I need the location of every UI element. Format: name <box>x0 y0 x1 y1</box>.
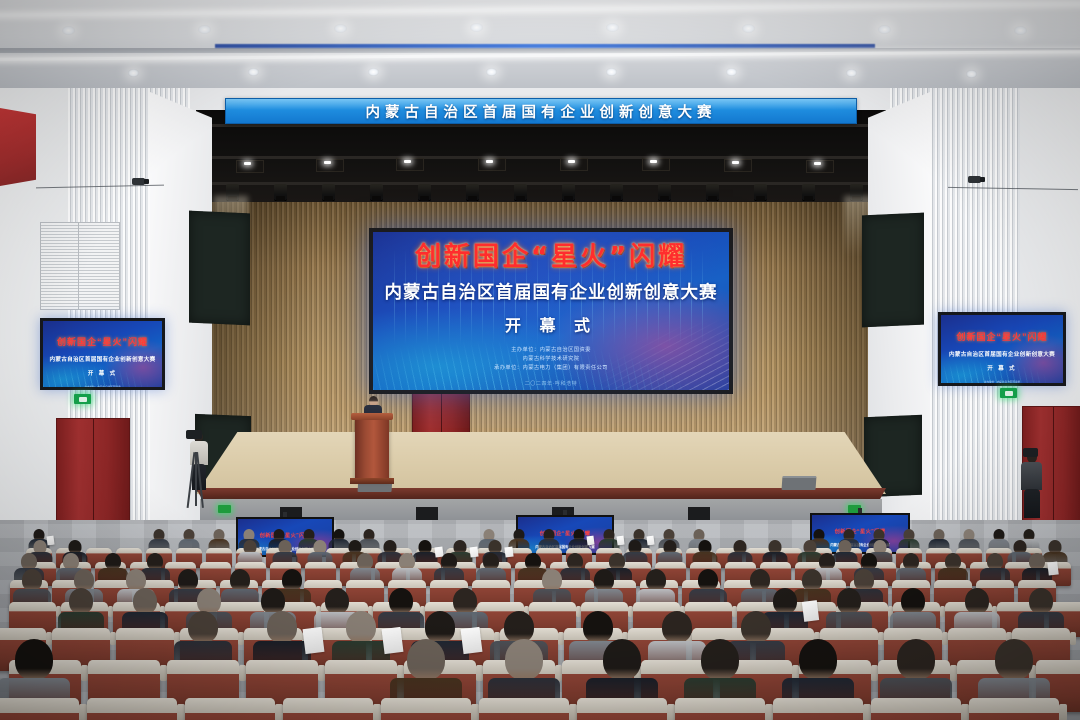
seat-headrest <box>167 660 239 674</box>
audience-head <box>69 588 93 614</box>
seat-headrest <box>655 562 686 568</box>
ceiling-downlight <box>966 70 977 78</box>
led-surface: 创新国企“星火”闪耀 内蒙古自治区首届国有企业创新创意大赛 开 幕 式 主办单位… <box>373 232 729 390</box>
main-headline: 创新国企“星火”闪耀 <box>373 244 729 270</box>
audience-head <box>698 569 718 591</box>
seat-headrest <box>206 548 232 553</box>
seat-headrest <box>346 580 384 588</box>
audience-head <box>407 639 445 680</box>
audience-head <box>133 588 157 614</box>
seat-headrest <box>388 580 426 588</box>
seat-headrest <box>472 580 510 588</box>
seat-headrest <box>270 562 301 568</box>
seat-headrest <box>760 562 791 568</box>
seat-armrest <box>318 665 325 681</box>
truss-bar <box>196 182 886 185</box>
seat-headrest <box>0 698 79 713</box>
audience-head <box>188 611 218 643</box>
apron-vent <box>416 507 438 521</box>
audience-seat[interactable] <box>185 698 275 720</box>
organizer-line-2: 内蒙古科学技术研究院 <box>373 355 729 364</box>
audience-head <box>230 569 250 591</box>
audience-head <box>1029 588 1053 614</box>
seat-headrest <box>305 562 336 568</box>
operator-legs <box>1024 489 1040 518</box>
event-date-line: 二〇二四年·呼和浩特 <box>373 380 729 387</box>
side-right-headline: 创新国企“星火”闪耀 <box>941 330 1063 343</box>
apron-vent <box>688 507 710 521</box>
audience-head <box>995 639 1033 680</box>
seat-headrest <box>185 698 275 713</box>
audience-seat[interactable] <box>773 698 863 720</box>
podium-base <box>350 478 394 484</box>
organizer-line-3: 承办单位：内蒙古电力（集团）有限责任公司 <box>373 364 729 373</box>
acoustic-panel <box>189 211 250 326</box>
seat-armrest <box>765 704 773 720</box>
audience-head <box>701 639 739 680</box>
seat-headrest <box>325 660 397 674</box>
side-left-headline: 创新国企“星火”闪耀 <box>43 335 162 348</box>
seat-armrest <box>373 704 381 720</box>
seat-headrest <box>1012 628 1070 640</box>
seat-headrest <box>675 698 765 713</box>
audience-head <box>897 639 935 680</box>
seat-headrest <box>430 580 468 588</box>
stage-spotlight <box>562 184 575 200</box>
stage-spotlight <box>418 184 431 200</box>
truss-bar <box>196 124 886 127</box>
seat-headrest <box>235 562 266 568</box>
seat-armrest <box>160 665 167 681</box>
ceiling-downlight <box>62 26 75 35</box>
seat-headrest <box>479 698 569 713</box>
seat-armrest <box>1070 632 1076 645</box>
seat-headrest <box>577 698 667 713</box>
seat-headrest <box>246 660 318 674</box>
ceiling-downlight <box>878 25 891 34</box>
organizer-line-1: 主办单位：内蒙古自治区国资委 <box>373 346 729 355</box>
audience-seat[interactable] <box>871 698 961 720</box>
audience-head <box>594 569 614 591</box>
stage-spotlight <box>274 184 287 200</box>
ceiling-downlight <box>606 23 619 32</box>
seat-headrest <box>200 562 231 568</box>
main-subtitle: 内蒙古自治区首届国有企业创新创意大赛 <box>373 279 729 304</box>
stage-spotlight <box>802 184 815 200</box>
ceiling-downlight <box>846 69 857 77</box>
stage-spotlight <box>514 184 527 200</box>
seat-headrest <box>52 628 110 640</box>
audience-head <box>505 639 543 680</box>
seat-armrest <box>177 704 185 720</box>
stage-spotlight <box>322 184 335 200</box>
ceiling-downlight <box>1014 26 1027 35</box>
audience-seat[interactable] <box>87 698 177 720</box>
stage-light-glow <box>732 161 739 164</box>
seat-armrest <box>871 665 878 681</box>
ceiling-downlight <box>486 68 497 76</box>
seat-headrest <box>976 580 1014 588</box>
stage-spotlight <box>610 184 623 200</box>
seat-armrest <box>275 704 283 720</box>
main-led-screen: 创新国企“星火”闪耀 内蒙古自治区首届国有企业创新创意大赛 开 幕 式 主办单位… <box>369 228 733 394</box>
seat-armrest <box>476 665 483 681</box>
stage-light-glow <box>404 160 411 163</box>
handout-paper <box>303 627 325 654</box>
ceremony-label: 开 幕 式 <box>373 312 729 336</box>
audience-seat[interactable] <box>479 698 569 720</box>
seat-headrest <box>381 698 471 713</box>
side-screen-wave <box>941 350 1063 383</box>
tripod-left <box>186 452 212 510</box>
stage-light-glow <box>244 162 251 165</box>
seat-armrest <box>79 704 87 720</box>
audience-head <box>799 639 837 680</box>
cctv-camera-left <box>132 178 145 185</box>
hall-door-left[interactable] <box>56 418 130 532</box>
auditorium-photo: 创新国企“星火”闪耀 内蒙古自治区首届国有企业创新创意大赛 开 幕 式 主办单位… <box>0 0 1080 720</box>
led-text-block: 创新国企“星火”闪耀 内蒙古自治区首届国有企业创新创意大赛 开 幕 式 主办单位… <box>373 232 729 387</box>
audience-seat[interactable] <box>577 698 667 720</box>
ceiling-downlight <box>470 23 483 32</box>
ceiling <box>0 0 1080 92</box>
seat-armrest <box>667 704 675 720</box>
handout-paper <box>461 627 483 654</box>
exit-sign-left-wall <box>74 394 91 404</box>
seat-headrest <box>969 698 1059 713</box>
audience-head <box>389 588 413 614</box>
ceiling-downlight <box>334 24 347 33</box>
audience-head <box>646 569 666 591</box>
door-seam <box>93 419 94 531</box>
stage-spotlight <box>754 184 767 200</box>
ceiling-downlight <box>742 24 755 33</box>
side-screen-right: 创新国企“星火”闪耀 内蒙古自治区首届国有企业创新创意大赛 开 幕 式 主办单位… <box>938 312 1066 386</box>
handout-paper <box>646 536 654 546</box>
seat-headrest <box>773 698 863 713</box>
seat-headrest <box>0 628 46 640</box>
cctv-camera-right <box>968 176 981 183</box>
seat-armrest <box>239 665 246 681</box>
seat-headrest <box>116 628 174 640</box>
seat-armrest <box>1059 704 1067 720</box>
air-vent-left-b <box>78 222 120 310</box>
podium-top <box>351 413 393 420</box>
audience-head <box>22 569 42 591</box>
stage-light-glow <box>324 161 331 164</box>
seat-headrest <box>884 628 942 640</box>
stage-light-glow <box>650 160 657 163</box>
ceiling-downlight <box>248 68 259 76</box>
seat-headrest <box>892 580 930 588</box>
video-camera-right <box>1023 448 1038 457</box>
side-screen-wave <box>43 355 162 387</box>
ceiling-downlight <box>606 68 617 76</box>
audience-seat[interactable] <box>969 698 1059 720</box>
stage-spotlight <box>466 184 479 200</box>
seat-armrest <box>569 704 577 720</box>
video-camera-left <box>186 430 202 439</box>
stage-floor-monitor-right <box>782 476 817 490</box>
seat-headrest <box>948 628 1006 640</box>
truss-bar <box>196 156 886 159</box>
red-wall-decor <box>0 108 36 186</box>
stage-light-glow <box>486 160 493 163</box>
handout-paper <box>802 600 819 622</box>
audience-seat[interactable] <box>381 698 471 720</box>
seat-headrest <box>88 660 160 674</box>
exit-sign-apron-left <box>218 505 231 513</box>
door-seam <box>1053 407 1054 523</box>
audience-seat[interactable] <box>283 698 373 720</box>
side-screen-left-surface: 创新国企“星火”闪耀 内蒙古自治区首届国有企业创新创意大赛 开 幕 式 主办单位… <box>43 321 162 387</box>
seat-headrest <box>176 548 202 553</box>
audience-head <box>901 588 925 614</box>
audience-head <box>346 611 376 643</box>
exit-sign-right-wall <box>1000 388 1017 398</box>
ceiling-light-strip-1 <box>0 2 1080 17</box>
seat-headrest <box>9 602 56 611</box>
ceiling-downlight <box>368 68 379 76</box>
audience-head <box>267 611 297 643</box>
banner-gloss <box>226 99 856 110</box>
stage-spotlight <box>370 184 383 200</box>
stage-light-glow <box>814 162 821 165</box>
handout-paper <box>586 536 594 546</box>
seat-armrest <box>471 704 479 720</box>
seat-headrest <box>690 562 721 568</box>
seat-headrest <box>725 562 756 568</box>
ceiling-downlight <box>726 68 737 76</box>
podium <box>355 418 389 480</box>
camera-operator-right <box>1018 452 1046 518</box>
seat-headrest <box>87 698 177 713</box>
air-vent-left-a <box>40 222 82 310</box>
ceiling-downlight <box>198 25 211 34</box>
seat-armrest <box>81 665 88 681</box>
acoustic-panel <box>862 213 924 328</box>
seat-headrest <box>934 580 972 588</box>
operator-body <box>1021 462 1042 490</box>
seat-armrest <box>863 704 871 720</box>
seat-headrest <box>1018 580 1056 588</box>
stage-light-glow <box>568 160 575 163</box>
stage-spotlight <box>706 184 719 200</box>
audience-head <box>15 639 53 680</box>
seat-headrest <box>871 698 961 713</box>
audience-seat[interactable] <box>675 698 765 720</box>
seat-headrest <box>820 628 878 640</box>
ceiling-downlight <box>128 69 139 77</box>
ceiling-blue-led-strip <box>215 44 875 48</box>
stage-spotlight <box>658 184 671 200</box>
event-banner: 内蒙古自治区首届国有企业创新创意大赛 <box>225 98 857 124</box>
side-screen-left: 创新国企“星火”闪耀 内蒙古自治区首届国有企业创新创意大赛 开 幕 式 主办单位… <box>40 318 165 390</box>
audience-head <box>603 639 641 680</box>
seat-armrest <box>961 704 969 720</box>
side-screen-right-surface: 创新国企“星火”闪耀 内蒙古自治区首届国有企业创新创意大赛 开 幕 式 主办单位… <box>941 315 1063 383</box>
seat-headrest <box>283 698 373 713</box>
handout-paper <box>1047 561 1059 575</box>
audience-head <box>965 588 989 614</box>
audience-head <box>542 569 562 591</box>
audience-head <box>837 588 861 614</box>
audience-seat[interactable] <box>0 698 79 720</box>
